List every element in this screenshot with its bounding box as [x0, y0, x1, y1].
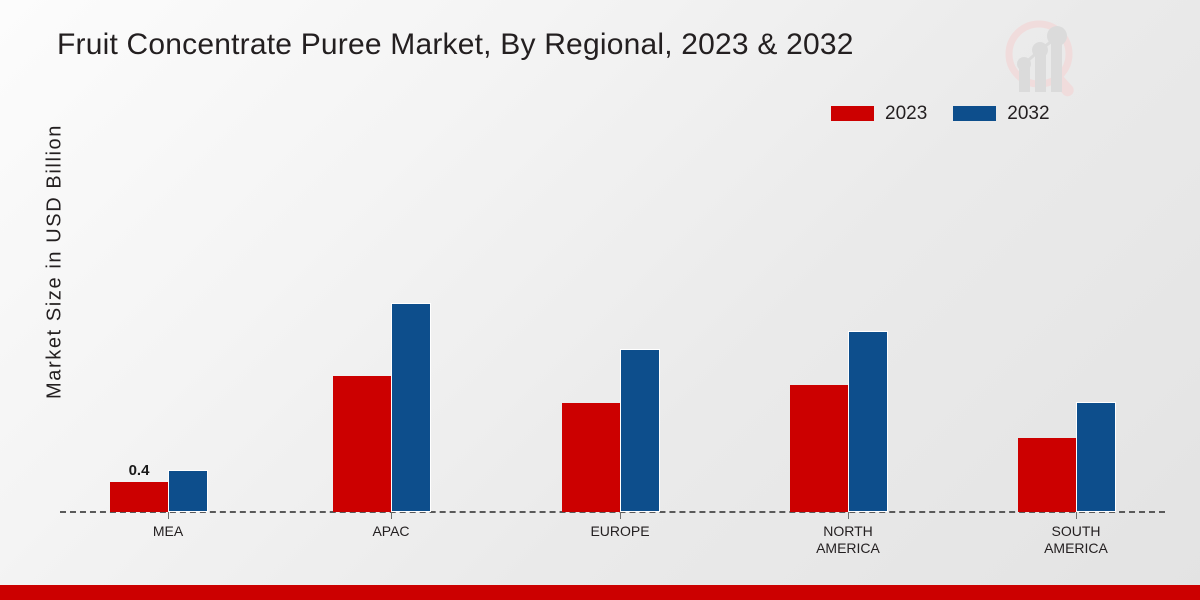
bar-2023[interactable]	[790, 385, 848, 512]
x-axis-label-line: SOUTH	[996, 523, 1156, 540]
bar-value-label: 0.4	[110, 462, 168, 479]
x-axis-label-line: AMERICA	[996, 540, 1156, 557]
footer-accent-bar	[0, 585, 1200, 600]
x-axis-label-line: NORTH	[768, 523, 928, 540]
x-axis-label: APAC	[311, 523, 471, 540]
bar-2032[interactable]	[620, 349, 660, 512]
x-axis-label: SOUTHAMERICA	[996, 523, 1156, 557]
x-axis-label: EUROPE	[540, 523, 700, 540]
x-axis-tick	[1076, 512, 1077, 519]
bar-2023[interactable]	[1018, 438, 1076, 512]
x-axis-tick	[168, 512, 169, 519]
x-axis-tick	[620, 512, 621, 519]
x-axis-label: MEA	[88, 523, 248, 540]
bar-2023[interactable]: 0.4	[110, 482, 168, 512]
bar-2032[interactable]	[848, 331, 888, 512]
bar-2023[interactable]	[333, 376, 391, 512]
bar-2032[interactable]	[1076, 402, 1116, 512]
chart-container: Fruit Concentrate Puree Market, By Regio…	[0, 0, 1200, 600]
bar-2032[interactable]	[391, 303, 431, 512]
plot-area: 0.4 MEAAPACEUROPENORTHAMERICASOUTHAMERIC…	[0, 0, 1200, 600]
x-axis-label: NORTHAMERICA	[768, 523, 928, 557]
bar-2032[interactable]	[168, 470, 208, 512]
x-axis-tick	[848, 512, 849, 519]
x-axis-tick	[391, 512, 392, 519]
x-axis-label-line: MEA	[88, 523, 248, 540]
x-axis-label-line: APAC	[311, 523, 471, 540]
x-axis-label-line: EUROPE	[540, 523, 700, 540]
x-axis-label-line: AMERICA	[768, 540, 928, 557]
bar-2023[interactable]	[562, 403, 620, 512]
